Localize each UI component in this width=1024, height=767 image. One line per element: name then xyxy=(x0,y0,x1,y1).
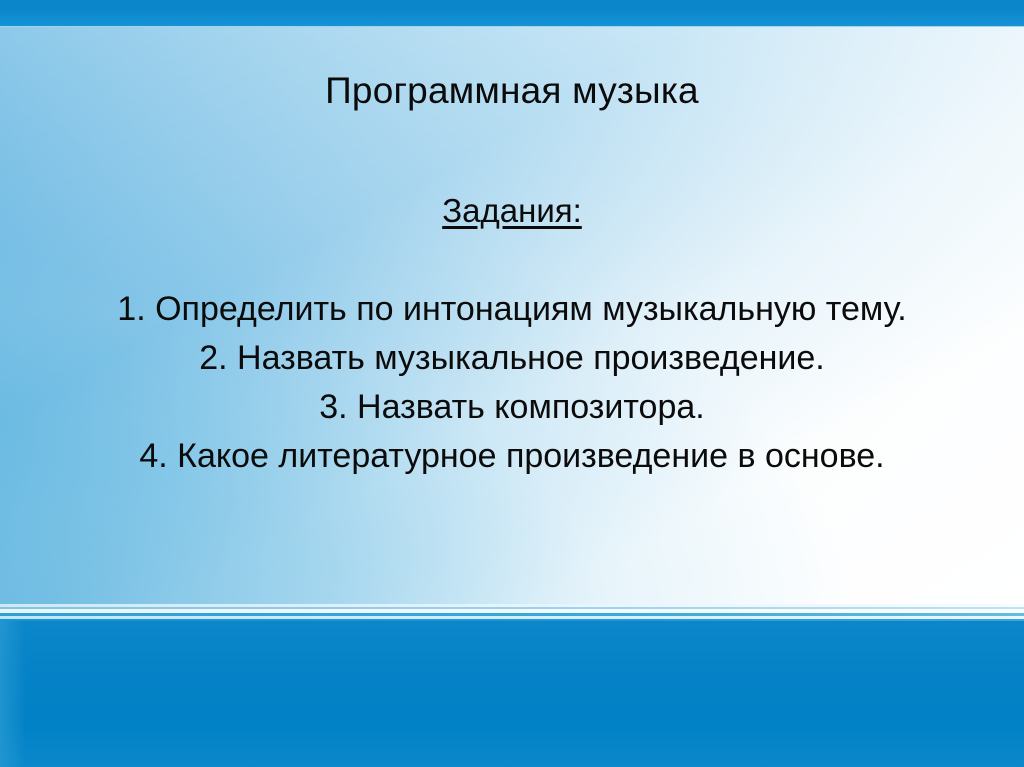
subheading-label: Задания: xyxy=(442,193,582,229)
subheading-row: Задания: xyxy=(0,193,1024,229)
page-title: Программная музыка xyxy=(0,72,1024,111)
presentation-slide: Программная музыка Задания: 1. Определит… xyxy=(0,0,1024,767)
list-item: 2. Назвать музыкальное произведение. xyxy=(0,334,1024,383)
bottom-banner-bar xyxy=(0,621,1024,767)
list-item: 3. Назвать композитора. xyxy=(0,383,1024,432)
list-item: 1. Определить по интонациям музыкальную … xyxy=(0,285,1024,334)
list-item: 4. Какое литературное произведение в осн… xyxy=(0,432,1024,481)
task-list: 1. Определить по интонациям музыкальную … xyxy=(0,285,1024,481)
